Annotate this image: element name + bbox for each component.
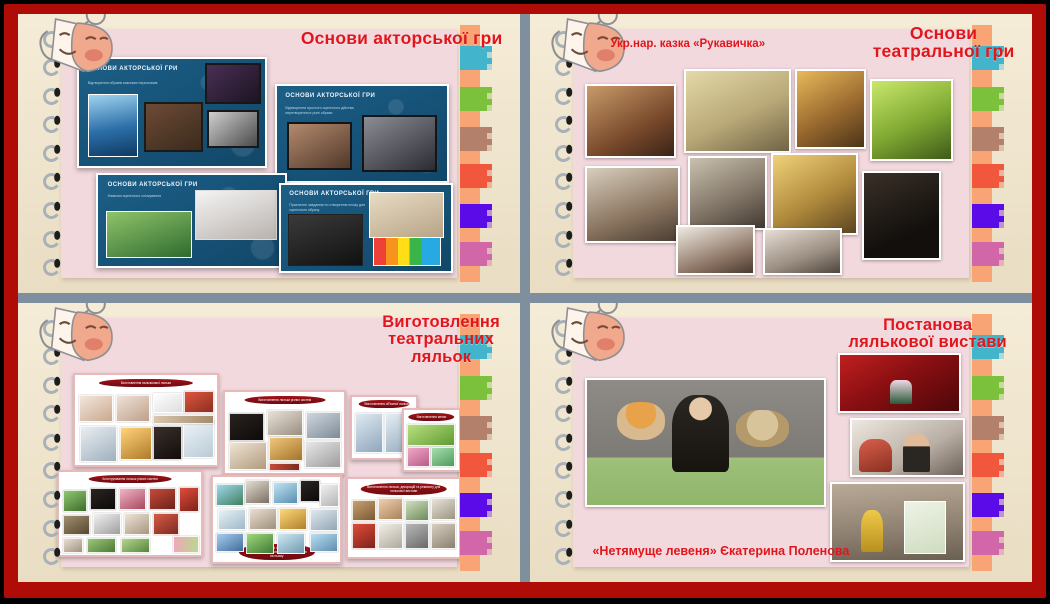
photo-participant <box>870 79 953 161</box>
collage-card[interactable]: Серія малюнків за фрагментами. Виготовле… <box>211 475 342 564</box>
binding-ring <box>554 318 574 338</box>
binding-ring <box>42 318 62 338</box>
collage-card[interactable]: Виготовлення ляльки різних систем <box>223 390 346 474</box>
tab-cyan[interactable] <box>460 46 493 70</box>
slide-collage <box>573 318 970 566</box>
page-title: Постанова лялькової вистави <box>848 317 1007 352</box>
slide-canvas: ОСНОВИ АКТОРСЬКОЇ ГРИ Відтворення образі… <box>18 14 1032 582</box>
binding-ring <box>554 257 574 277</box>
photo-puppet-and-drawing <box>830 482 965 561</box>
binding-ring <box>42 143 62 163</box>
panel-postanova-lyalkovoi-vystavy[interactable]: «Нетямуще левеня» Єкатерина Поленова <box>530 303 1032 582</box>
binding-ring <box>42 58 62 78</box>
binding-ring <box>42 404 62 424</box>
collage-card[interactable]: Конструювання ляльок різних систем <box>57 470 204 557</box>
binding-ring <box>554 172 574 192</box>
binding-ring <box>554 432 574 452</box>
photo-participant <box>862 171 941 260</box>
index-tabs <box>460 20 493 288</box>
spiral-binding <box>34 314 69 571</box>
photo-stage-red <box>838 353 961 413</box>
photo-puppet-performance[interactable] <box>585 378 827 507</box>
card-thumbnails <box>213 477 340 562</box>
photo-participant <box>688 156 767 230</box>
mini-slide[interactable]: ОСНОВИ АКТОРСЬКОЇ ГРИ Навички сценічного… <box>96 173 286 267</box>
tab-green[interactable] <box>460 376 493 400</box>
mini-slide-sub: Практичне завдання по створенню ескізу д… <box>289 203 371 213</box>
performance-caption: «Нетямуще левеня» Єкатерина Поленова <box>592 544 849 558</box>
tab-red[interactable] <box>460 453 493 477</box>
binding-ring <box>42 518 62 538</box>
panel-vyhotovlennya-teatralnykh-lyalok[interactable]: Виготовлення пальчикової ляльки <box>18 303 520 582</box>
binding-ring <box>42 200 62 220</box>
tab-purple[interactable] <box>972 493 1005 517</box>
panel-osnovy-teatralnoi-hry[interactable]: Укр.нар. казка «Рукавичка» Основи театра… <box>530 14 1032 293</box>
tab-brown[interactable] <box>972 127 1005 151</box>
collage-card[interactable]: Виготовлення ляльок, декорацій та реквіз… <box>346 477 461 559</box>
page-title: Виготовлення театральних ляльок <box>382 314 500 366</box>
slide-collage <box>573 29 970 277</box>
binding-ring <box>42 115 62 135</box>
tab-purple[interactable] <box>972 204 1005 228</box>
binding-ring <box>554 229 574 249</box>
mini-slide-heading: ОСНОВИ АКТОРСЬКОЇ ГРИ <box>108 182 198 188</box>
binding-ring <box>554 115 574 135</box>
card-thumbnails <box>75 375 218 465</box>
binding-ring <box>42 546 62 566</box>
binding-ring <box>554 86 574 106</box>
slide-collage: ОСНОВИ АКТОРСЬКОЇ ГРИ Відтворення образі… <box>61 29 458 277</box>
photo-puppet-with-girl <box>850 418 965 478</box>
photo-participant <box>763 228 842 275</box>
page-subtitle: Укр.нар. казка «Рукавичка» <box>610 38 765 50</box>
tab-red[interactable] <box>460 164 493 188</box>
mini-slide-heading: ОСНОВИ АКТОРСЬКОЇ ГРИ <box>289 191 379 197</box>
binding-ring <box>42 347 62 367</box>
tab-brown[interactable] <box>972 416 1005 440</box>
binding-ring <box>554 58 574 78</box>
photo-participant <box>585 166 680 243</box>
tab-brown[interactable] <box>460 416 493 440</box>
photo-video-grid <box>287 122 352 170</box>
slide-surface: «Нетямуще левеня» Єкатерина Поленова <box>573 318 970 566</box>
tab-pink[interactable] <box>460 531 493 555</box>
photo-masks-grid <box>288 214 363 265</box>
mini-slide[interactable]: ОСНОВИ АКТОРСЬКОЇ ГРИ Відтворення образі… <box>77 57 267 169</box>
binding-ring <box>554 375 574 395</box>
photo-colored-paper <box>373 237 441 266</box>
screenshot-root: ОСНОВИ АКТОРСЬКОЇ ГРИ Відтворення образі… <box>0 0 1050 604</box>
photo-video-call <box>207 110 259 148</box>
slide-surface: ОСНОВИ АКТОРСЬКОЇ ГРИ Відтворення образі… <box>61 29 458 277</box>
tab-green[interactable] <box>460 87 493 111</box>
binding-ring <box>42 229 62 249</box>
photo-participant <box>585 84 676 158</box>
tab-red[interactable] <box>972 453 1005 477</box>
photo-video-call <box>144 102 204 153</box>
mini-slide-sub: Відтворення простого сценічного дійства,… <box>285 106 367 116</box>
mini-slide[interactable]: ОСНОВИ АКТОРСЬКОЇ ГРИ Практичне завдання… <box>279 183 453 272</box>
binding-ring <box>554 143 574 163</box>
binding-ring <box>554 29 574 49</box>
photo-participant <box>771 153 858 235</box>
photo-screenshare <box>106 211 192 258</box>
mini-slide-sub: Навички сценічного спілкування <box>108 194 197 199</box>
tab-red[interactable] <box>972 164 1005 188</box>
panel-osnovy-aktorskoi-hry[interactable]: ОСНОВИ АКТОРСЬКОЇ ГРИ Відтворення образі… <box>18 14 520 293</box>
binding-ring <box>554 461 574 481</box>
binding-ring <box>554 546 574 566</box>
card-thumbnails <box>348 479 459 557</box>
tab-purple[interactable] <box>460 493 493 517</box>
binding-ring <box>42 432 62 452</box>
binding-ring <box>554 489 574 509</box>
mini-slide-heading: ОСНОВИ АКТОРСЬКОЇ ГРИ <box>88 66 178 72</box>
mini-slide-sub: Відтворення образів казкових персонажів <box>88 81 177 86</box>
photo-video-call <box>205 63 261 104</box>
tab-brown[interactable] <box>460 127 493 151</box>
binding-ring <box>42 257 62 277</box>
tab-pink[interactable] <box>460 242 493 266</box>
collage-card[interactable]: Виготовлення квітки <box>402 408 461 473</box>
page-title: Основи акторської гри <box>301 29 503 47</box>
spiral-binding <box>546 314 581 571</box>
photo-screenshare <box>195 190 277 241</box>
binding-ring <box>554 200 574 220</box>
card-thumbnails <box>225 392 344 472</box>
spiral-binding <box>546 25 581 282</box>
tab-green[interactable] <box>972 376 1005 400</box>
binding-ring <box>42 86 62 106</box>
tab-pink[interactable] <box>972 242 1005 266</box>
page-title: Основи театральної гри <box>873 24 1015 61</box>
binding-ring <box>42 461 62 481</box>
collage-card[interactable]: Виготовлення пальчикової ляльки <box>73 373 220 467</box>
panel-grid: ОСНОВИ АКТОРСЬКОЇ ГРИ Відтворення образі… <box>18 14 1032 582</box>
card-thumbnails <box>59 472 202 555</box>
binding-ring <box>554 518 574 538</box>
tab-pink[interactable] <box>972 531 1005 555</box>
mini-slide[interactable]: ОСНОВИ АКТОРСЬКОЇ ГРИ Відтворення просто… <box>275 84 449 183</box>
tab-purple[interactable] <box>460 204 493 228</box>
mini-slide-heading: ОСНОВИ АКТОРСЬКОЇ ГРИ <box>285 93 375 99</box>
binding-ring <box>42 29 62 49</box>
binding-ring <box>42 172 62 192</box>
binding-ring <box>42 375 62 395</box>
photo-video-grid <box>362 115 437 172</box>
card-thumbnails <box>404 410 459 471</box>
binding-ring <box>554 347 574 367</box>
binding-ring <box>42 489 62 509</box>
slide-surface <box>573 29 970 277</box>
spiral-binding <box>34 25 69 282</box>
binding-ring <box>554 404 574 424</box>
photo-participant <box>795 69 866 148</box>
photo-participant <box>676 225 755 275</box>
tab-green[interactable] <box>972 87 1005 111</box>
photo-masks-grid <box>369 192 444 238</box>
photo-frozen-poster <box>88 94 138 156</box>
photo-participant <box>684 69 791 153</box>
